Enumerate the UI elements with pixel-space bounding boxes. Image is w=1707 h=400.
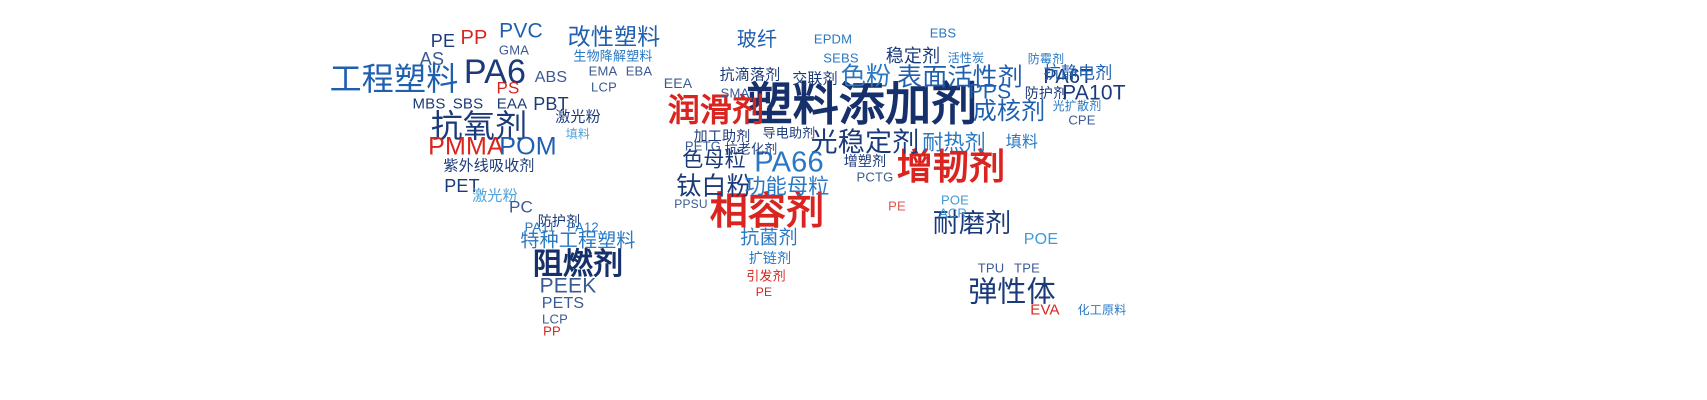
word-cloud-term[interactable]: CPE: [1068, 114, 1095, 127]
word-cloud-term[interactable]: PE: [756, 286, 772, 298]
word-cloud-term[interactable]: LCP: [591, 81, 617, 94]
word-cloud-term[interactable]: PC: [509, 199, 533, 216]
word-cloud-term[interactable]: 抗菌剂: [740, 229, 798, 248]
word-cloud-term[interactable]: 色粉: [841, 64, 891, 89]
word-cloud-term[interactable]: PP: [543, 325, 561, 338]
word-cloud-term[interactable]: 抗滴落剂: [720, 68, 781, 83]
word-cloud-term[interactable]: TPE: [1014, 262, 1040, 275]
word-cloud-term[interactable]: 防霉剂: [1028, 53, 1065, 65]
word-cloud-term[interactable]: PVC: [499, 21, 543, 42]
word-cloud-term[interactable]: EAA: [497, 97, 528, 112]
word-cloud-term[interactable]: EMA: [589, 65, 618, 78]
word-cloud-term[interactable]: PA12: [567, 221, 599, 234]
word-cloud-term[interactable]: PP: [460, 28, 487, 48]
word-cloud-term[interactable]: ABS: [535, 70, 568, 86]
word-cloud-term[interactable]: 化工原料: [1078, 304, 1127, 316]
word-cloud-term[interactable]: 引发剂: [746, 271, 786, 284]
word-cloud-term[interactable]: SBS: [453, 97, 484, 112]
word-cloud-term[interactable]: PPSU: [674, 198, 707, 210]
word-cloud-term[interactable]: 耐热剂: [922, 133, 986, 154]
word-cloud-term[interactable]: 导电助剂: [763, 128, 816, 141]
word-cloud-term[interactable]: EBS: [930, 27, 957, 40]
word-cloud-term[interactable]: 光稳定剂: [811, 130, 920, 157]
word-cloud-term[interactable]: POE: [1024, 232, 1058, 248]
word-cloud-term[interactable]: SEBS: [823, 52, 858, 65]
word-cloud-term[interactable]: GMA: [499, 44, 529, 57]
word-cloud-term[interactable]: PA11: [525, 221, 556, 234]
word-cloud-term[interactable]: PS: [496, 80, 519, 97]
word-cloud-term[interactable]: PETS: [542, 296, 585, 312]
word-cloud-term[interactable]: EEA: [664, 76, 693, 90]
word-cloud-term[interactable]: 增塑剂: [844, 155, 887, 169]
word-cloud-term[interactable]: 填料: [1006, 134, 1038, 150]
word-cloud-term[interactable]: PCTG: [857, 171, 894, 184]
word-cloud-term[interactable]: 生物降解塑料: [573, 51, 652, 64]
word-cloud-term[interactable]: MBS: [412, 97, 445, 112]
word-cloud-term[interactable]: 钛白粉: [676, 174, 752, 199]
word-cloud-term[interactable]: 填料: [566, 128, 590, 140]
word-cloud-term[interactable]: PETG: [685, 140, 721, 153]
word-cloud-term[interactable]: PPS: [969, 82, 1012, 103]
word-cloud-term[interactable]: 抗静电剂: [1044, 66, 1113, 83]
word-cloud-term[interactable]: EBA: [626, 65, 653, 78]
word-cloud-term[interactable]: 玻纤: [737, 29, 777, 49]
word-cloud-term[interactable]: 激光粉: [555, 110, 601, 125]
word-cloud-term[interactable]: 润滑剂: [668, 94, 765, 126]
word-cloud-term[interactable]: PE: [888, 200, 906, 213]
word-cloud-term[interactable]: PE: [431, 32, 455, 50]
word-cloud-term[interactable]: 光扩散剂: [1053, 100, 1102, 112]
word-cloud-term[interactable]: 紫外线吸收剂: [443, 159, 534, 174]
word-cloud-term[interactable]: EVA: [1030, 303, 1060, 318]
word-cloud-term[interactable]: AS: [420, 50, 444, 68]
word-cloud-term[interactable]: SMA: [721, 87, 750, 100]
word-cloud-term[interactable]: EPDM: [814, 33, 852, 46]
word-cloud-term[interactable]: 改性塑料: [568, 27, 661, 50]
word-cloud-canvas: 塑料添加剂相容剂增韧剂润滑剂工程塑料抗氧剂PA6阻燃剂光稳定剂表面活性剂弹性体P…: [0, 0, 1707, 400]
word-cloud-term[interactable]: 交联剂: [792, 72, 838, 87]
word-cloud-term[interactable]: 功能母粒: [745, 177, 830, 198]
word-cloud-term[interactable]: 抗老化剂: [725, 144, 778, 157]
word-cloud-term[interactable]: 稳定剂: [886, 48, 941, 66]
word-cloud-term[interactable]: 活性炭: [948, 52, 985, 64]
word-cloud-term[interactable]: PEEK: [540, 276, 597, 297]
word-cloud-term[interactable]: 扩链剂: [749, 252, 792, 266]
word-cloud-term[interactable]: ACR: [939, 207, 967, 220]
word-cloud-term[interactable]: TPU: [978, 262, 1005, 275]
